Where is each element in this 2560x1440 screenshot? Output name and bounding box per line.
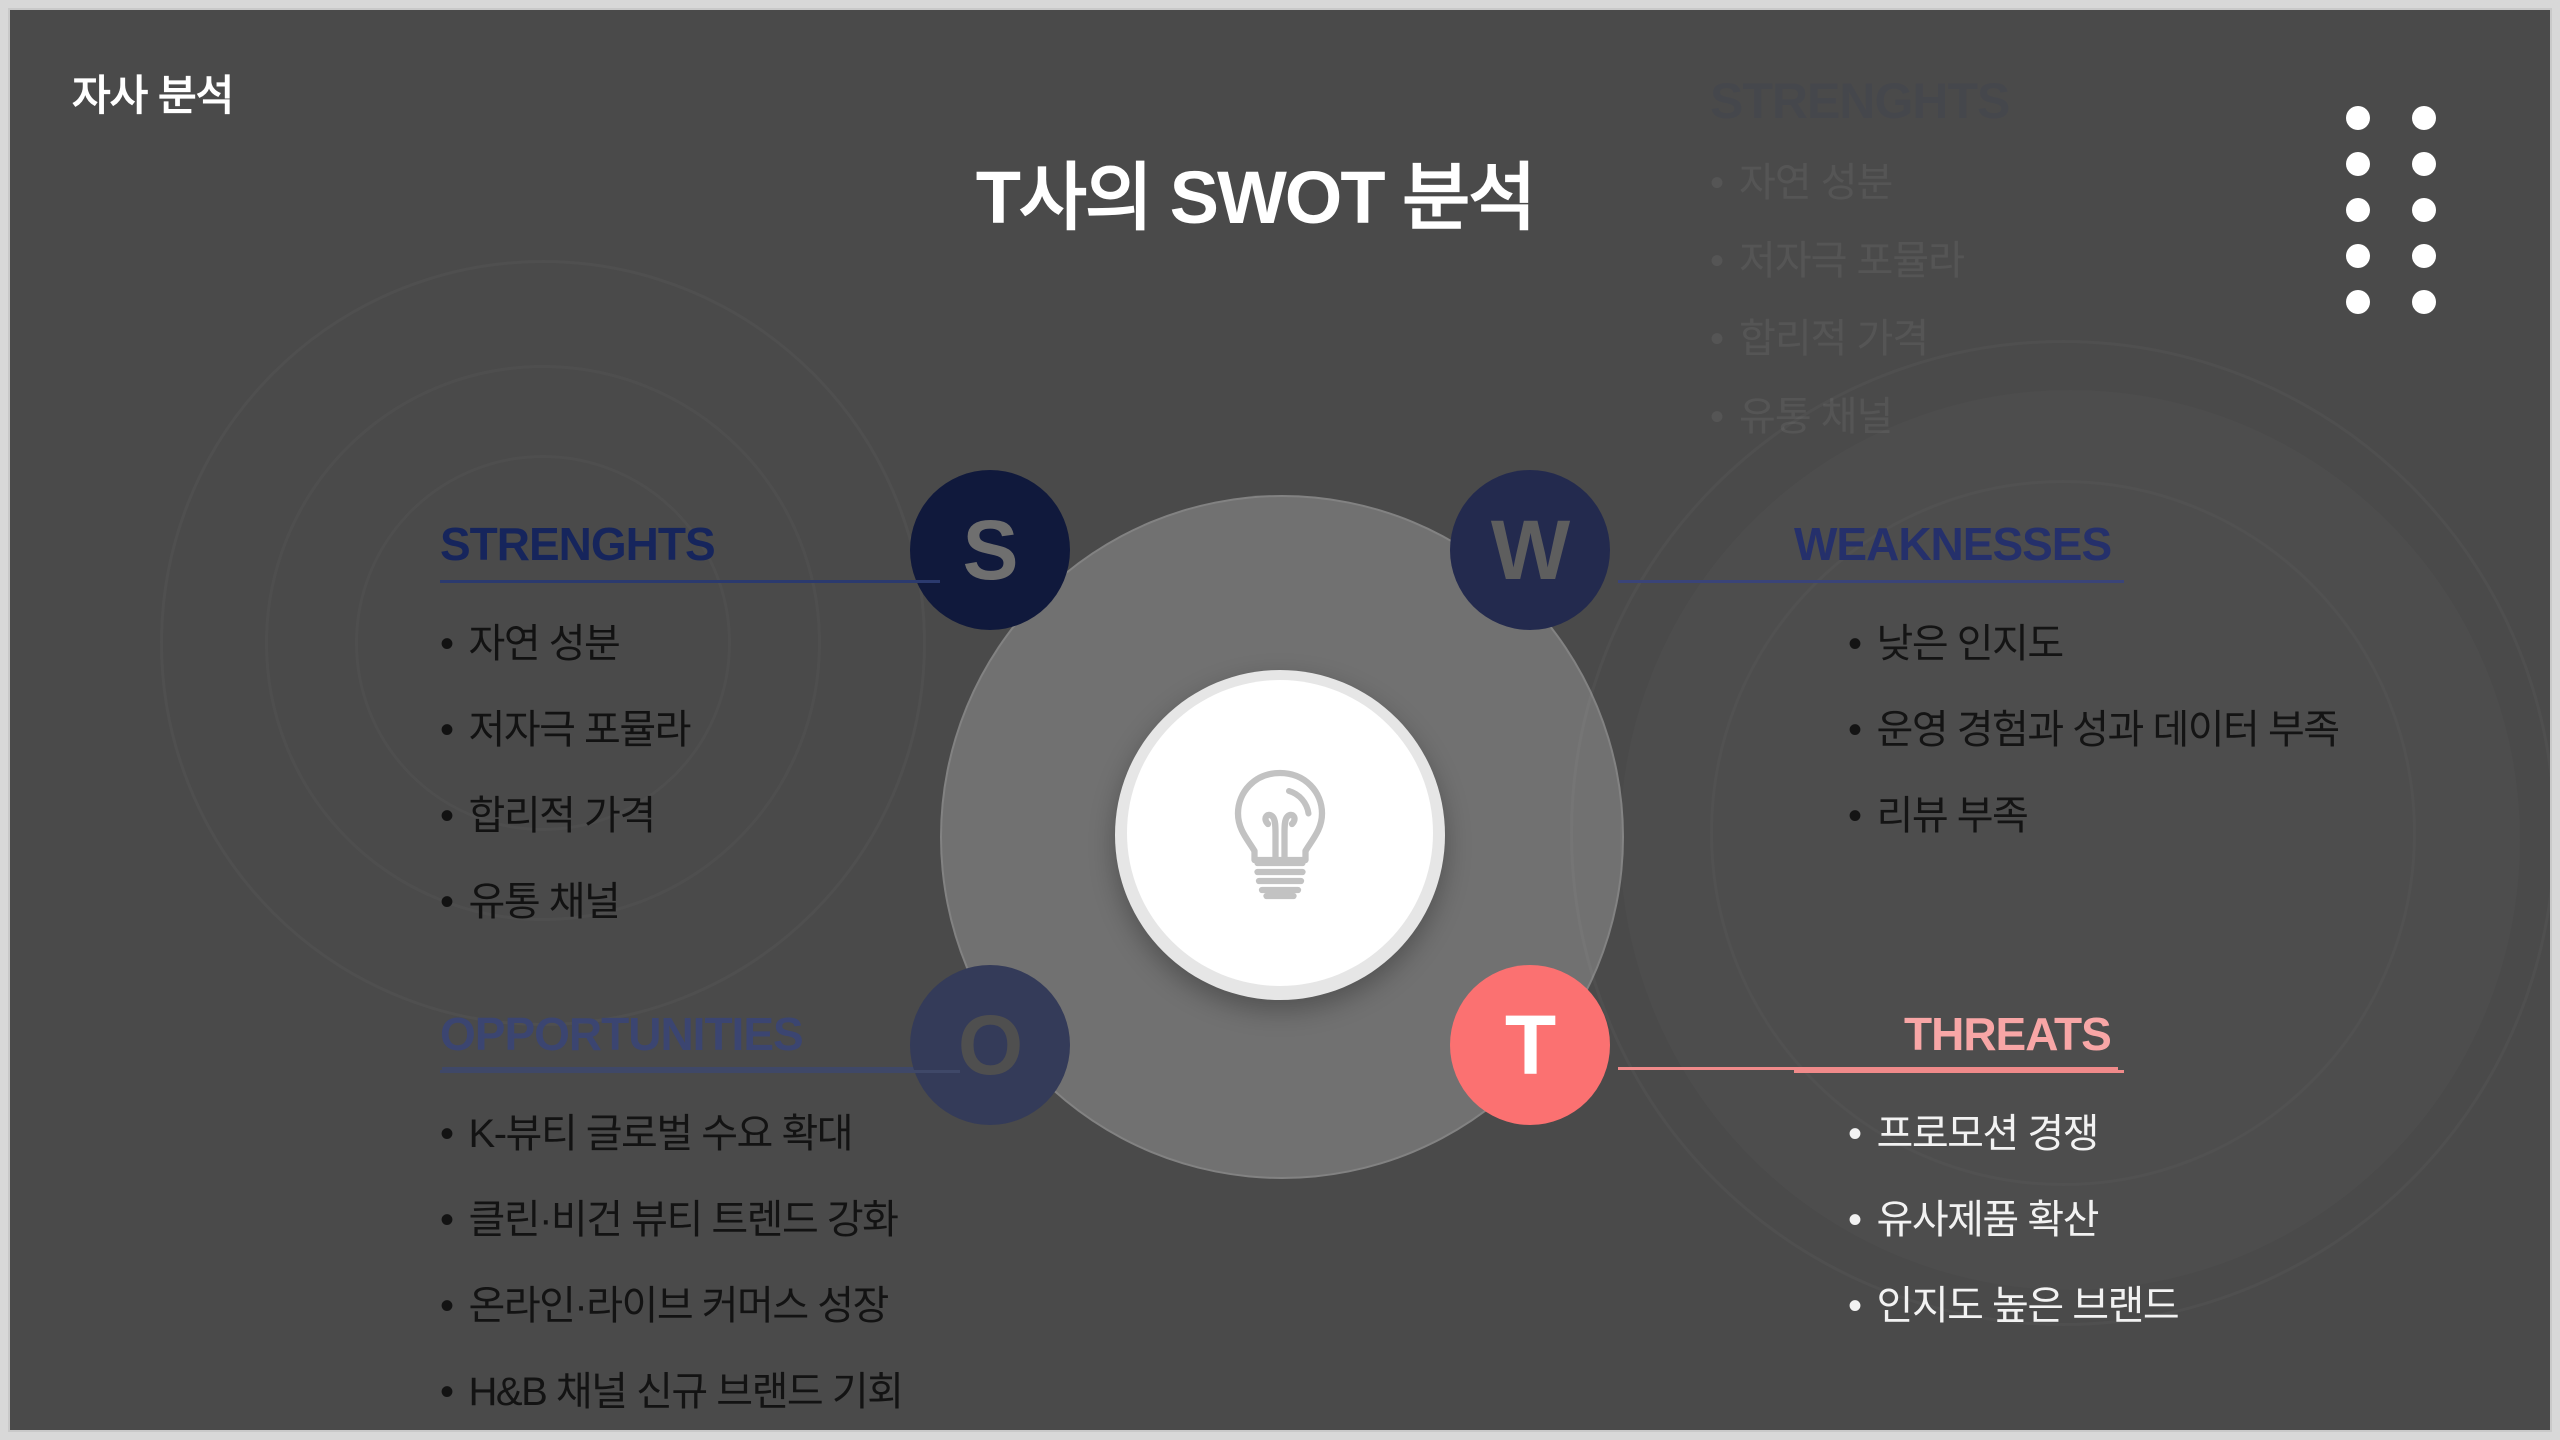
grid-dot (2412, 152, 2436, 176)
list-item: 운영 경험과 성과 데이터 부족 (1848, 697, 2550, 755)
quadrant-strengths: STRENGHTS 자연 성분 저자극 포뮬라 합리적 가격 유통 채널 (440, 520, 940, 927)
swot-node-t[interactable]: T (1450, 965, 1610, 1125)
list-item: 온라인·라이브 커머스 성장 (440, 1273, 960, 1331)
grid-dot (2346, 198, 2370, 222)
page-title-text: T사의 SWOT 분석 (976, 138, 1535, 245)
page-title: T사의 SWOT 분석 (10, 138, 2550, 245)
decor-dot-grid (2346, 106, 2448, 326)
list-item: 유사제품 확산 (1848, 1187, 2550, 1245)
ghost-strengths-block: STRENGHTS 자연 성분 저자극 포뮬라 합리적 가격 유통 채널 (1710, 72, 2270, 442)
list-item: 유통 채널 (440, 869, 940, 927)
weaknesses-list: 낮은 인지도 운영 경험과 성과 데이터 부족 리뷰 부족 (1794, 611, 2550, 841)
threats-heading: THREATS (1794, 1010, 2550, 1058)
weaknesses-underline (1794, 580, 2124, 583)
ghost-item: 합리적 가격 (1710, 306, 2270, 364)
list-item: 리뷰 부족 (1848, 783, 2550, 841)
list-item: 낮은 인지도 (1848, 611, 2550, 669)
list-item: 인지도 높은 브랜드 (1848, 1273, 2550, 1331)
list-item: K-뷰티 글로벌 수요 확대 (440, 1101, 960, 1159)
swot-hub-graphic: S W O T (925, 480, 1635, 1190)
list-item: 클린·비건 뷰티 트렌드 강화 (440, 1187, 960, 1245)
slide-kicker: 자사 분석 (72, 62, 233, 123)
grid-dot (2412, 290, 2436, 314)
grid-dot (2412, 106, 2436, 130)
strengths-list: 자연 성분 저자극 포뮬라 합리적 가격 유통 채널 (440, 611, 940, 927)
list-item: 자연 성분 (440, 611, 940, 669)
hub-inner-circle (1127, 680, 1433, 986)
strengths-underline (440, 580, 940, 583)
threats-underline (1794, 1070, 2124, 1073)
weaknesses-heading: WEAKNESSES (1794, 520, 2550, 568)
grid-dot (2412, 198, 2436, 222)
opportunities-list: K-뷰티 글로벌 수요 확대 클린·비건 뷰티 트렌드 강화 온라인·라이브 커… (440, 1101, 960, 1417)
lightbulb-icon (1205, 758, 1355, 908)
grid-dot (2346, 106, 2370, 130)
quadrant-weaknesses: WEAKNESSES 낮은 인지도 운영 경험과 성과 데이터 부족 리뷰 부족 (1794, 520, 2550, 841)
list-item: 합리적 가격 (440, 783, 940, 841)
list-item: 저자극 포뮬라 (440, 697, 940, 755)
grid-dot (2412, 244, 2436, 268)
ghost-heading: STRENGHTS (1710, 72, 2270, 130)
quadrant-opportunities: OPPORTUNITIES K-뷰티 글로벌 수요 확대 클린·비건 뷰티 트렌… (440, 1010, 960, 1417)
grid-dot (2346, 290, 2370, 314)
grid-dot (2346, 152, 2370, 176)
quadrant-threats: THREATS 프로모션 경쟁 유사제품 확산 인지도 높은 브랜드 (1794, 1010, 2550, 1331)
opportunities-heading: OPPORTUNITIES (440, 1010, 960, 1058)
opportunities-underline (440, 1070, 960, 1073)
grid-dot (2346, 244, 2370, 268)
list-item: 프로모션 경쟁 (1848, 1101, 2550, 1159)
swot-node-w[interactable]: W (1450, 470, 1610, 630)
threats-list: 프로모션 경쟁 유사제품 확산 인지도 높은 브랜드 (1794, 1101, 2550, 1331)
list-item: H&B 채널 신규 브랜드 기회 (440, 1359, 960, 1417)
slide-canvas: 자사 분석 T사의 SWOT 분석 STRENGHTS 자연 성분 저자극 포뮬… (10, 10, 2550, 1430)
strengths-heading: STRENGHTS (440, 520, 940, 568)
